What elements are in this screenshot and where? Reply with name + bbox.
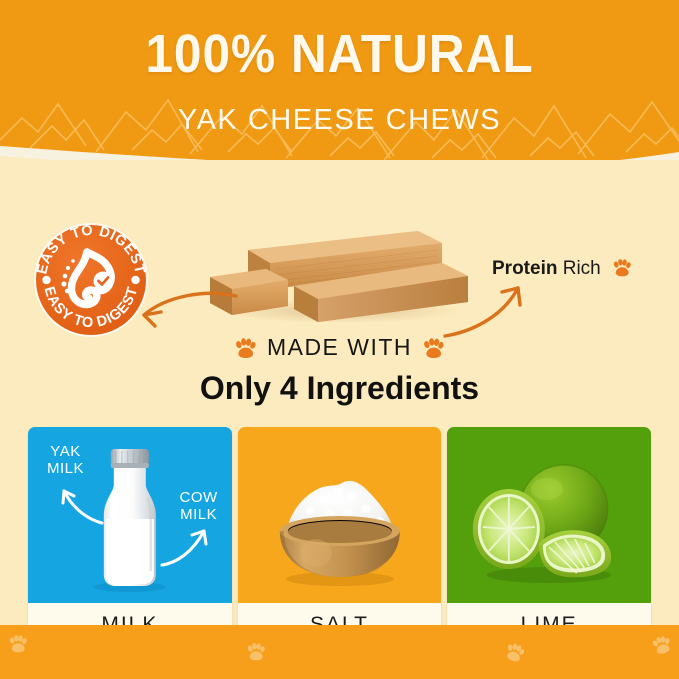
page-title: 100% NATURAL: [27, 25, 652, 83]
arrow-yak-milk-icon: [52, 479, 106, 529]
lime-wedge: [539, 530, 611, 577]
salt-bowl-image: [238, 427, 442, 603]
footer-band: [0, 625, 679, 679]
protein-rich-claim: Protein Rich: [492, 258, 632, 283]
callout-yak-milk: YAKMILK: [47, 443, 84, 477]
ingredient-card-salt[interactable]: SALT: [238, 427, 442, 646]
header-banner: 100% NATURAL YAK CHEESE CHEWS: [0, 0, 679, 178]
paw-print-icon-right: [422, 338, 445, 365]
rich-label: Rich: [563, 258, 601, 279]
arrow-to-protein-icon: [440, 276, 540, 342]
product-infographic: 100% NATURAL YAK CHEESE CHEWS: [0, 0, 679, 679]
paw-print-icon: [612, 259, 632, 283]
footer-paw-pattern: [0, 625, 679, 679]
ingredients-headline: Only 4 Ingredients: [0, 370, 679, 407]
made-with-label: MADE WITH: [267, 334, 412, 360]
callout-cow-milk: COWMILK: [180, 489, 218, 523]
lime-half: [473, 489, 545, 569]
ingredient-card-lime[interactable]: LIME: [447, 427, 651, 646]
milk-bottle-image: YAKMILK COWMILK: [28, 427, 232, 603]
paw-print-icon-left: [234, 338, 257, 365]
ingredient-card-milk[interactable]: YAKMILK COWMILK MILK: [28, 427, 232, 646]
lime-fruit-image: [447, 427, 651, 603]
page-subtitle: YAK CHEESE CHEWS: [0, 104, 679, 137]
protein-label: Protein: [492, 258, 557, 279]
ingredient-panels: YAKMILK COWMILK MILK: [28, 427, 651, 646]
arrow-cow-milk-icon: [158, 521, 214, 569]
made-with-row: MADE WITH: [0, 334, 679, 365]
arrow-to-badge-icon: [132, 288, 242, 334]
